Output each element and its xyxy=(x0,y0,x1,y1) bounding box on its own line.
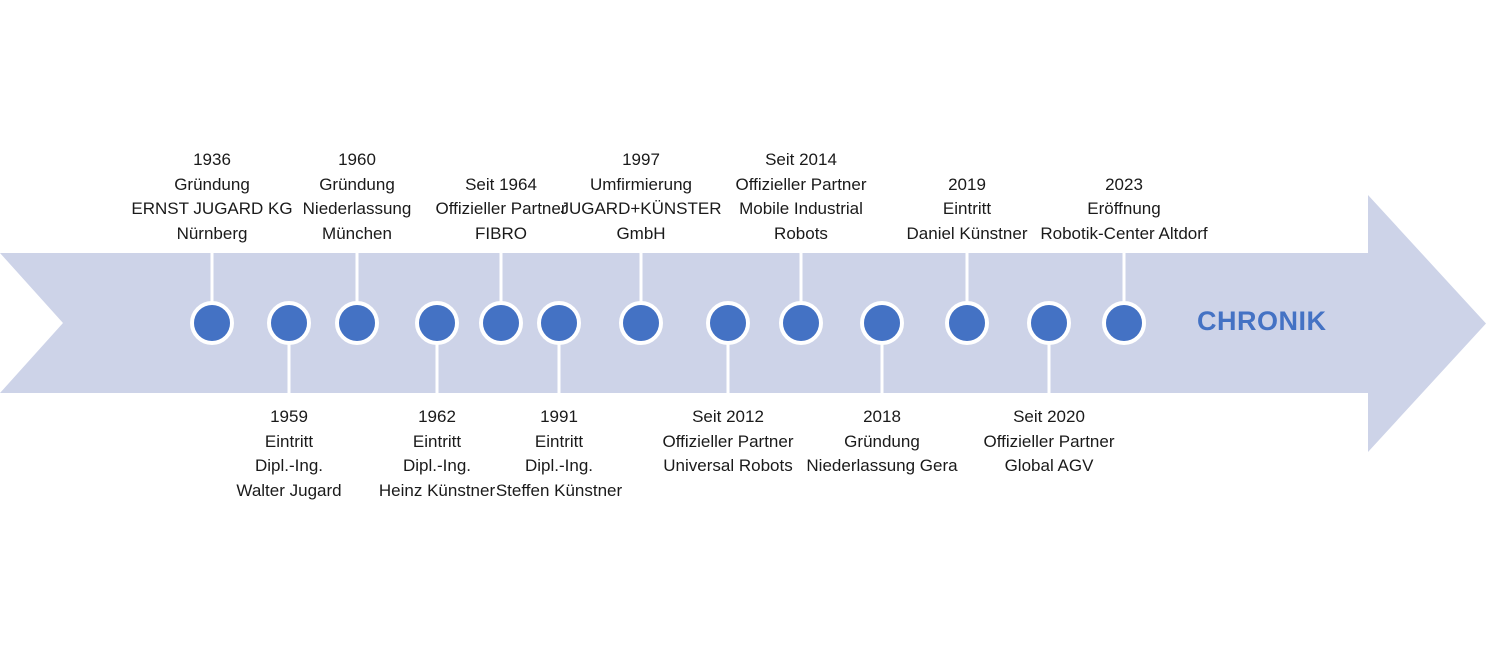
milestone-label: 1962EintrittDipl.-Ing.Heinz Künstner xyxy=(379,405,495,503)
milestone-year: 1960 xyxy=(303,148,412,173)
milestone-label: 1959EintrittDipl.-Ing.Walter Jugard xyxy=(236,405,341,503)
milestone-node[interactable] xyxy=(541,305,577,341)
milestone-detail-line: Dipl.-Ing. xyxy=(496,454,622,479)
chronik-timeline: 1936GründungERNST JUGARD KGNürnberg1959E… xyxy=(0,0,1488,649)
milestone-year: 1959 xyxy=(236,405,341,430)
milestone-node[interactable] xyxy=(1106,305,1142,341)
milestone-detail-line: Offizieller Partner xyxy=(435,197,566,222)
milestone-node[interactable] xyxy=(419,305,455,341)
milestone-detail-line: GmbH xyxy=(560,222,721,247)
milestone-detail-line: Eintritt xyxy=(379,430,495,455)
milestone-detail-line: Niederlassung xyxy=(303,197,412,222)
milestone-detail-line: Gründung xyxy=(806,430,957,455)
milestone-detail-line: Mobile Industrial xyxy=(735,197,866,222)
milestone-detail-line: Eintritt xyxy=(907,197,1028,222)
milestone-detail-line: Robotik-Center Altdorf xyxy=(1040,222,1207,247)
milestone-detail-line: FIBRO xyxy=(435,222,566,247)
milestone-year: 1936 xyxy=(131,148,292,173)
milestone-label: 2019EintrittDaniel Künstner xyxy=(907,173,1028,247)
milestone-detail-line: Universal Robots xyxy=(662,454,793,479)
milestone-node[interactable] xyxy=(194,305,230,341)
milestone-detail-line: Dipl.-Ing. xyxy=(236,454,341,479)
milestone-label: Seit 1964Offizieller PartnerFIBRO xyxy=(435,173,566,247)
milestone-detail-line: Eintritt xyxy=(496,430,622,455)
milestone-detail-line: Walter Jugard xyxy=(236,479,341,504)
milestone-detail-line: Gründung xyxy=(303,173,412,198)
milestone-year: 1991 xyxy=(496,405,622,430)
milestone-detail-line: ERNST JUGARD KG xyxy=(131,197,292,222)
milestone-detail-line: JUGARD+KÜNSTER xyxy=(560,197,721,222)
milestone-detail-line: Daniel Künstner xyxy=(907,222,1028,247)
milestone-node[interactable] xyxy=(1031,305,1067,341)
milestone-detail-line: Offizieller Partner xyxy=(983,430,1114,455)
milestone-year: 2023 xyxy=(1040,173,1207,198)
milestone-detail-line: Offizieller Partner xyxy=(735,173,866,198)
milestone-detail-line: Gründung xyxy=(131,173,292,198)
milestone-node[interactable] xyxy=(864,305,900,341)
milestone-label: 2023EröffnungRobotik-Center Altdorf xyxy=(1040,173,1207,247)
milestone-detail-line: Dipl.-Ing. xyxy=(379,454,495,479)
milestone-detail-line: Offizieller Partner xyxy=(662,430,793,455)
milestone-detail-line: Nürnberg xyxy=(131,222,292,247)
milestone-node[interactable] xyxy=(623,305,659,341)
milestone-label: 1936GründungERNST JUGARD KGNürnberg xyxy=(131,148,292,246)
milestone-detail-line: Niederlassung Gera xyxy=(806,454,957,479)
milestone-node[interactable] xyxy=(783,305,819,341)
milestone-label: Seit 2012Offizieller PartnerUniversal Ro… xyxy=(662,405,793,479)
milestone-label: 1991EintrittDipl.-Ing.Steffen Künstner xyxy=(496,405,622,503)
milestone-year: 1962 xyxy=(379,405,495,430)
milestone-label: 2018GründungNiederlassung Gera xyxy=(806,405,957,479)
milestone-detail-line: Global AGV xyxy=(983,454,1114,479)
milestone-node[interactable] xyxy=(483,305,519,341)
milestone-label: 1960GründungNiederlassungMünchen xyxy=(303,148,412,246)
milestone-year: 2019 xyxy=(907,173,1028,198)
milestone-label: Seit 2020Offizieller PartnerGlobal AGV xyxy=(983,405,1114,479)
milestone-label: 1997UmfirmierungJUGARD+KÜNSTERGmbH xyxy=(560,148,721,246)
milestone-detail-line: Steffen Künstner xyxy=(496,479,622,504)
milestone-detail-line: Umfirmierung xyxy=(560,173,721,198)
milestone-node[interactable] xyxy=(271,305,307,341)
milestone-year: Seit 2012 xyxy=(662,405,793,430)
milestone-detail-line: Eintritt xyxy=(236,430,341,455)
milestone-year: 2018 xyxy=(806,405,957,430)
milestone-node[interactable] xyxy=(710,305,746,341)
milestone-year: 1997 xyxy=(560,148,721,173)
chronik-title: CHRONIK xyxy=(1197,306,1327,337)
milestone-node[interactable] xyxy=(949,305,985,341)
milestone-detail-line: Heinz Künstner xyxy=(379,479,495,504)
milestone-year: Seit 2014 xyxy=(735,148,866,173)
milestone-detail-line: Robots xyxy=(735,222,866,247)
milestone-year: Seit 2020 xyxy=(983,405,1114,430)
milestone-detail-line: München xyxy=(303,222,412,247)
milestone-label: Seit 2014Offizieller PartnerMobile Indus… xyxy=(735,148,866,246)
milestone-detail-line: Eröffnung xyxy=(1040,197,1207,222)
milestone-year: Seit 1964 xyxy=(435,173,566,198)
milestone-node[interactable] xyxy=(339,305,375,341)
